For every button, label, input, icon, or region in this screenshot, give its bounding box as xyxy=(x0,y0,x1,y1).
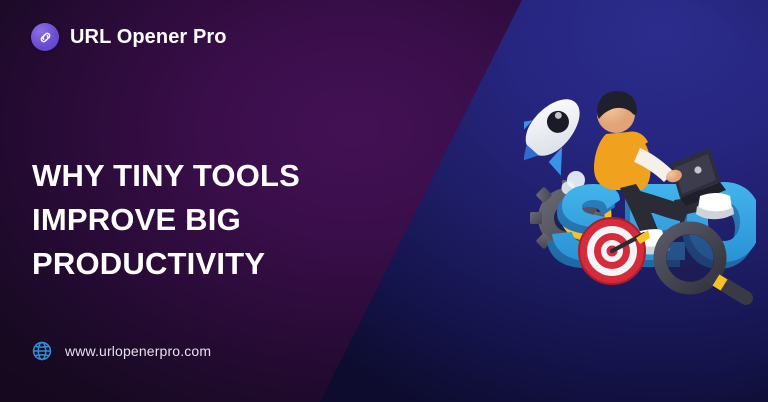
headline-line-1: WHY TINY TOOLS xyxy=(32,154,362,198)
website-url-text: www.urlopenerpro.com xyxy=(65,343,211,359)
headline-line-3: PRODUCTIVITY xyxy=(32,242,362,286)
seo-3d-illustration xyxy=(524,72,756,306)
brand-logo[interactable]: URL Opener Pro xyxy=(31,23,227,51)
rocket-icon xyxy=(524,77,604,186)
promo-banner: URL Opener Pro WHY TINY TOOLS IMPROVE BI… xyxy=(0,0,768,402)
headline-line-2: IMPROVE BIG xyxy=(32,198,362,242)
brand-name: URL Opener Pro xyxy=(70,26,227,49)
link-chain-icon xyxy=(31,23,59,51)
website-url-row[interactable]: www.urlopenerpro.com xyxy=(31,340,211,362)
globe-icon xyxy=(31,340,53,362)
page-title: WHY TINY TOOLS IMPROVE BIG PRODUCTIVITY xyxy=(32,154,362,286)
